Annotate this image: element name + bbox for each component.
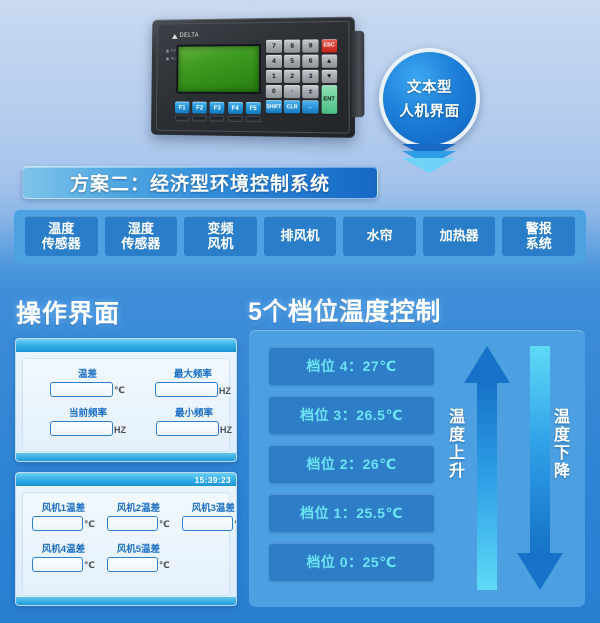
gear-row-3[interactable]: 档位 3：26.5℃ xyxy=(269,396,434,434)
function-key-label: F1 xyxy=(175,102,189,114)
temp-diff-input[interactable] xyxy=(50,382,113,397)
function-key-f2[interactable]: F2 xyxy=(192,102,207,122)
tag-exhaust-fan[interactable]: 排风机 xyxy=(264,216,337,256)
device-side-panel xyxy=(352,31,365,117)
function-key-f1[interactable]: F1 xyxy=(175,102,190,122)
key-esc[interactable]: ESC xyxy=(321,39,337,52)
numeric-keypad[interactable]: 7 8 9 ESC 4 5 6 ▲ 1 2 3 ▼ 0 · ± ENT SHIF… xyxy=(266,39,337,114)
function-key-f5[interactable]: F5 xyxy=(246,102,261,122)
field-input-wrap: ℃ xyxy=(50,382,125,397)
function-key-label: F2 xyxy=(192,102,207,114)
key-0[interactable]: 0 xyxy=(266,85,282,98)
field-unit: HZ xyxy=(219,386,231,397)
led-dot-icon xyxy=(166,57,169,60)
field-label: 风机5温差 xyxy=(107,541,170,555)
key-1[interactable]: 1 xyxy=(266,70,282,83)
field-fan4-temp-diff: 风机4温差 ℃ xyxy=(32,541,95,572)
field-fan1-temp-diff: 风机1温差 ℃ xyxy=(32,500,95,531)
field-label: 风机4温差 xyxy=(32,541,95,555)
lcd-screen xyxy=(176,44,261,94)
tag-line-1: 温度 xyxy=(48,221,74,236)
panel-title-bar: 15:39:23 xyxy=(16,473,236,486)
operation-panel-frequency: 温差 ℃ 最大频率 HZ 当前频率 HZ xyxy=(15,338,237,462)
temperature-rise-arrow: 温度上升 xyxy=(464,346,510,590)
tag-line-1: 水帘 xyxy=(367,228,393,243)
field-label: 温差 xyxy=(50,366,125,380)
hmi-device: DELTA POWER ALARM F1 F2 xyxy=(151,17,355,138)
field-label: 最大频率 xyxy=(155,366,231,380)
fan2-temp-diff-input[interactable] xyxy=(107,516,158,531)
gear-temperature-panel: 档位 4：27℃ 档位 3：26.5℃ 档位 2：26℃ 档位 1：25.5℃ … xyxy=(249,330,585,607)
top-area: DELTA POWER ALARM F1 F2 xyxy=(0,0,600,165)
temperature-fall-arrow: 温度下降 xyxy=(517,346,563,590)
badge-line-2: 人机界面 xyxy=(399,100,459,121)
field-input-wrap: ℃ xyxy=(182,516,237,531)
clock-timestamp: 15:39:23 xyxy=(195,475,231,485)
field-input-wrap: ℃ xyxy=(32,516,95,531)
key-shift[interactable]: SHIFT xyxy=(266,100,282,113)
field-unit: ℃ xyxy=(234,519,237,531)
tag-variable-frequency-fan[interactable]: 变频 风机 xyxy=(184,216,257,256)
scheme-title-banner: 方案二：经济型环境控制系统 xyxy=(22,166,378,199)
field-unit: ℃ xyxy=(159,519,170,531)
field-fan2-temp-diff: 风机2温差 ℃ xyxy=(107,500,170,531)
field-min-frequency: 最小频率 HZ xyxy=(156,405,232,436)
arrow-shaft xyxy=(477,383,497,590)
key-3[interactable]: 3 xyxy=(303,70,319,83)
field-unit: ℃ xyxy=(159,560,170,572)
operation-interface-heading: 操作界面 xyxy=(16,294,120,330)
field-input-wrap: HZ xyxy=(50,421,126,436)
function-key-label: F4 xyxy=(228,102,243,114)
tag-line-2: 系统 xyxy=(526,236,552,251)
tag-heater[interactable]: 加热器 xyxy=(423,216,496,256)
field-fan3-temp-diff: 风机3温差 ℃ xyxy=(182,500,237,531)
tag-humidity-sensor[interactable]: 湿度 传感器 xyxy=(105,216,178,256)
field-current-frequency: 当前频率 HZ xyxy=(50,405,126,436)
label-slot xyxy=(210,116,225,122)
field-unit: ℃ xyxy=(114,385,125,397)
tag-temperature-sensor[interactable]: 温度 传感器 xyxy=(25,216,98,256)
arrow-down-icon xyxy=(517,553,563,590)
tag-alarm-system[interactable]: 警报 系统 xyxy=(502,216,575,256)
field-unit: HZ xyxy=(220,425,232,436)
fan1-temp-diff-input[interactable] xyxy=(32,516,83,531)
fan3-temp-diff-input[interactable] xyxy=(182,516,233,531)
key-7[interactable]: 7 xyxy=(266,40,282,53)
arrow-up-icon xyxy=(464,346,510,383)
field-label: 风机2温差 xyxy=(107,500,170,514)
tag-line-1: 湿度 xyxy=(128,221,154,236)
field-unit: ℃ xyxy=(84,560,95,572)
tag-line-2: 风机 xyxy=(207,236,233,251)
hmi-type-badge: 文本型 人机界面 xyxy=(379,48,480,149)
field-label: 风机3温差 xyxy=(182,500,237,514)
field-unit: HZ xyxy=(114,425,126,436)
field-temp-diff: 温差 ℃ xyxy=(50,366,125,397)
field-row: 风机1温差 ℃ 风机2温差 ℃ 风机3温差 ℃ xyxy=(32,500,220,531)
max-frequency-input[interactable] xyxy=(155,382,218,397)
key-2[interactable]: 2 xyxy=(284,70,300,83)
function-key-label: F3 xyxy=(210,102,225,114)
field-unit: ℃ xyxy=(84,519,95,531)
min-frequency-input[interactable] xyxy=(156,421,219,436)
function-key-row: F1 F2 F3 F4 F5 xyxy=(175,102,261,123)
label-slot xyxy=(228,116,243,122)
key-9[interactable]: 9 xyxy=(303,39,319,52)
panel-content: 风机1温差 ℃ 风机2温差 ℃ 风机3温差 ℃ xyxy=(22,492,230,596)
tag-line-1: 加热器 xyxy=(440,228,479,243)
function-key-f3[interactable]: F3 xyxy=(210,102,225,122)
field-input-wrap: ℃ xyxy=(107,557,170,572)
field-max-frequency: 最大频率 HZ xyxy=(155,366,231,397)
field-fan5-temp-diff: 风机5温差 ℃ xyxy=(107,541,170,572)
field-label: 风机1温差 xyxy=(32,500,95,514)
led-dot-icon xyxy=(166,49,169,52)
fan5-temp-diff-input[interactable] xyxy=(107,557,158,572)
tag-line-1: 变频 xyxy=(207,221,233,236)
key-8[interactable]: 8 xyxy=(284,40,300,53)
key-4[interactable]: 4 xyxy=(266,55,282,68)
gear-row-2[interactable]: 档位 2：26℃ xyxy=(269,445,434,483)
arrow-up-label: 温度上升 xyxy=(442,408,466,480)
tag-line-2: 传感器 xyxy=(42,236,81,251)
panel-title-bar xyxy=(16,339,236,352)
gear-row-0[interactable]: 档位 0：25℃ xyxy=(269,543,434,581)
current-frequency-input[interactable] xyxy=(50,421,113,436)
gear-row-4[interactable]: 档位 4：27℃ xyxy=(269,347,434,385)
tag-water-curtain[interactable]: 水帘 xyxy=(343,216,416,256)
key-arrow-down-icon[interactable]: ▼ xyxy=(321,70,337,83)
fan4-temp-diff-input[interactable] xyxy=(32,557,83,572)
brand-text: DELTA xyxy=(179,33,199,39)
label-slot xyxy=(192,115,207,121)
chevron-down-icon xyxy=(402,158,456,173)
chevron-down-arrows xyxy=(402,152,456,173)
label-slot xyxy=(246,116,261,122)
field-row: 风机4温差 ℃ 风机5温差 ℃ xyxy=(32,541,220,572)
gear-row-1[interactable]: 档位 1：25.5℃ xyxy=(269,494,434,532)
key-5[interactable]: 5 xyxy=(284,55,300,68)
key-plusminus[interactable]: ± xyxy=(303,85,319,98)
panel-footer-bar xyxy=(16,453,236,461)
device-face: DELTA POWER ALARM F1 F2 xyxy=(156,21,350,134)
panel-content: 温差 ℃ 最大频率 HZ 当前频率 HZ xyxy=(22,358,230,452)
delta-logo: DELTA xyxy=(172,33,199,39)
function-key-label: F5 xyxy=(246,102,261,114)
field-row: 温差 ℃ 最大频率 HZ xyxy=(50,366,220,397)
tag-line-1: 警报 xyxy=(526,221,552,236)
panel-footer-bar xyxy=(16,597,236,605)
tag-line-1: 排风机 xyxy=(281,228,320,243)
badge-line-1: 文本型 xyxy=(407,76,452,97)
gear-control-heading: 5个档位温度控制 xyxy=(248,292,441,328)
function-key-f4[interactable]: F4 xyxy=(228,102,243,122)
key-arrow-up-icon[interactable]: ▲ xyxy=(321,55,337,68)
field-input-wrap: ℃ xyxy=(107,516,170,531)
component-tag-strip: 温度 传感器 湿度 传感器 变频 风机 排风机 水帘 加热器 警报 系统 xyxy=(14,209,586,263)
field-row: 当前频率 HZ 最小频率 HZ xyxy=(50,405,220,436)
label-slot xyxy=(175,115,189,121)
key-clr[interactable]: CLR xyxy=(284,101,300,114)
delta-triangle-icon xyxy=(172,34,178,39)
field-label: 最小频率 xyxy=(156,405,232,419)
field-label: 当前频率 xyxy=(50,405,126,419)
key-backspace-icon[interactable]: ← xyxy=(303,101,319,114)
field-input-wrap: HZ xyxy=(155,382,231,397)
operation-panel-fan-temp-diff: 15:39:23 风机1温差 ℃ 风机2温差 ℃ 风机3温差 xyxy=(15,472,237,606)
key-enter[interactable]: ENT xyxy=(321,85,337,113)
tag-line-2: 传感器 xyxy=(121,236,160,251)
gear-list: 档位 4：27℃ 档位 3：26.5℃ 档位 2：26℃ 档位 1：25.5℃ … xyxy=(269,347,434,581)
key-dot[interactable]: · xyxy=(284,85,300,98)
key-6[interactable]: 6 xyxy=(303,55,319,68)
field-input-wrap: ℃ xyxy=(32,557,95,572)
field-input-wrap: HZ xyxy=(156,421,232,436)
arrow-down-label: 温度下降 xyxy=(547,408,571,480)
